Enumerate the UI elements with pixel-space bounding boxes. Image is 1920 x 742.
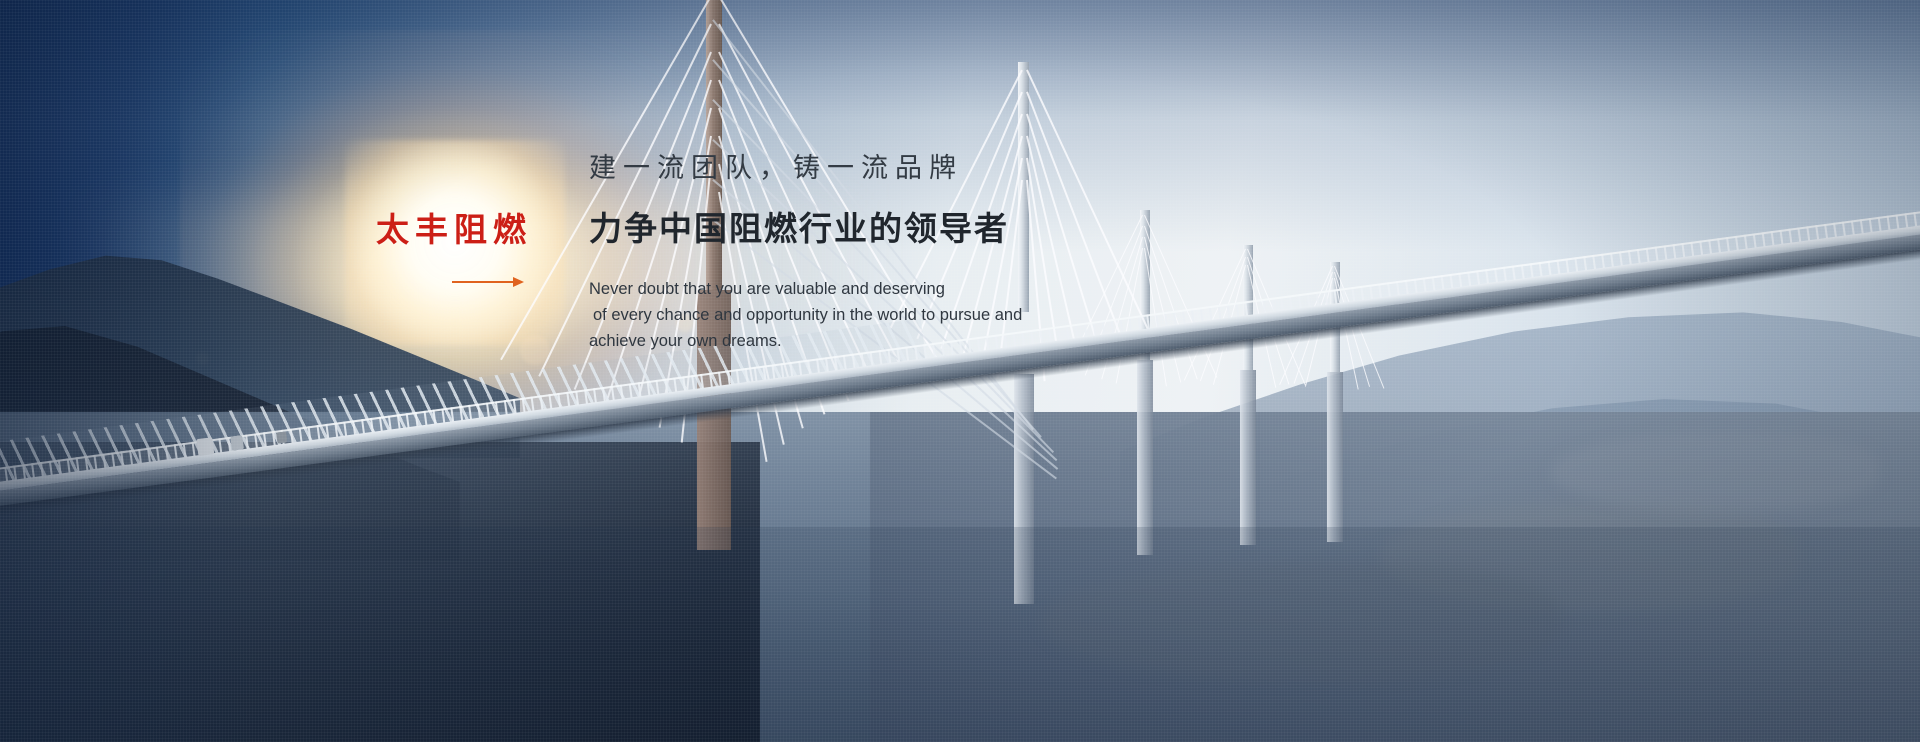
banner-description-line-2: of every chance and opportunity in the w… [589, 302, 1049, 328]
banner-subtitle: 建一流团队，铸一流品牌 [589, 152, 1229, 186]
banner-title: 力争中国阻燃行业的领导者 [589, 208, 1229, 249]
arrow-right-icon [452, 276, 524, 288]
banner-content: 太丰阻燃 建一流团队，铸一流品牌 力争中国阻燃行业的领导者 Never doub… [0, 0, 1920, 742]
banner-text-block: 建一流团队，铸一流品牌 力争中国阻燃行业的领导者 Never doubt tha… [589, 152, 1229, 354]
brand-logo-text: 太丰阻燃 [376, 212, 546, 248]
arrow-shaft [452, 281, 514, 283]
brand-logo[interactable]: 太丰阻燃 [376, 212, 546, 288]
hero-banner: 太丰阻燃 建一流团队，铸一流品牌 力争中国阻燃行业的领导者 Never doub… [0, 0, 1920, 742]
banner-description-line-1: Never doubt that you are valuable and de… [589, 276, 1049, 302]
banner-description: Never doubt that you are valuable and de… [589, 276, 1049, 354]
banner-description-line-3: achieve your own dreams. [589, 328, 1049, 354]
arrow-head [513, 277, 524, 287]
